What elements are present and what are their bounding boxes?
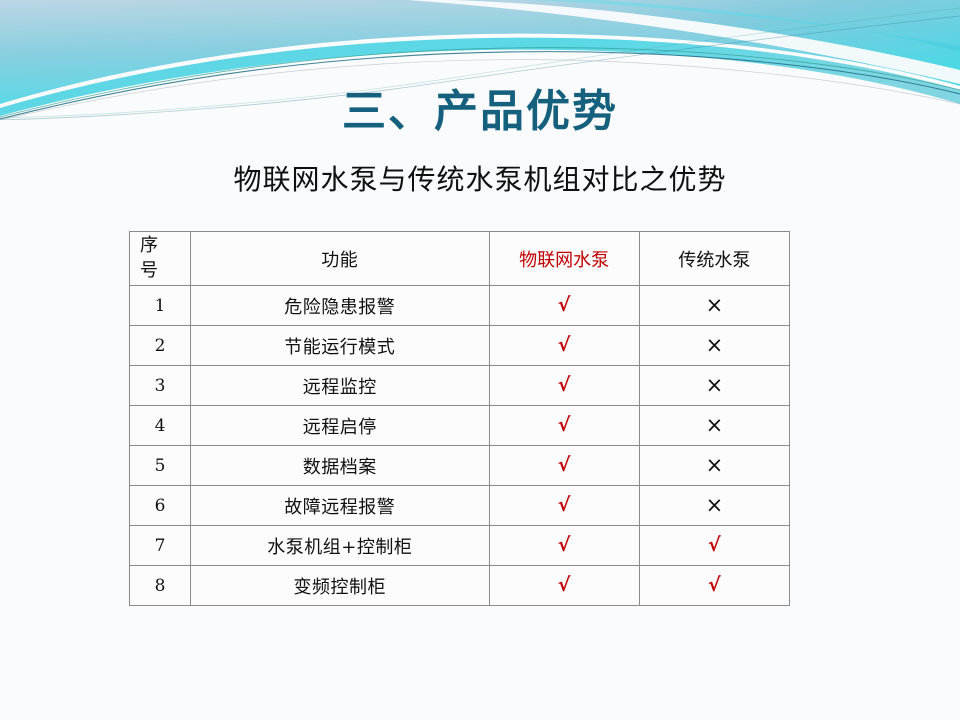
table-row: 2节能运行模式√× (130, 326, 790, 366)
table-header-row: 序 号 功能 物联网水泵 传统水泵 (130, 232, 790, 286)
cell-function-value: 远程监控 (303, 377, 377, 398)
cell-index-value: 4 (155, 416, 166, 436)
column-header-function-label: 功能 (321, 250, 358, 271)
cell-traditional-pump: × (639, 486, 789, 526)
column-header-function: 功能 (191, 232, 489, 286)
cross-icon: × (706, 415, 724, 436)
check-icon: √ (558, 376, 571, 395)
cell-index: 5 (130, 446, 191, 486)
cell-traditional-pump: √ (639, 566, 789, 606)
column-header-iot-pump: 物联网水泵 (489, 232, 639, 286)
slide-canvas: 三、产品优势 物联网水泵与传统水泵机组对比之优势 序 号 (0, 0, 960, 720)
cell-index: 6 (130, 486, 191, 526)
cell-index-value: 6 (155, 496, 166, 516)
cell-function-value: 远程启停 (303, 417, 377, 438)
table-row: 5数据档案√× (130, 446, 790, 486)
cell-traditional-pump: √ (639, 526, 789, 566)
cell-function: 故障远程报警 (191, 486, 489, 526)
column-header-index-label: 序 号 (140, 234, 180, 283)
cell-traditional-pump: × (639, 286, 789, 326)
column-header-index-line2: 号 (140, 259, 180, 283)
comparison-table-container: 序 号 功能 物联网水泵 传统水泵 1危险隐患报警√×2节能运行模式√×3远 (129, 231, 790, 606)
cross-icon: × (706, 455, 724, 476)
comparison-table: 序 号 功能 物联网水泵 传统水泵 1危险隐患报警√×2节能运行模式√×3远 (129, 231, 790, 606)
cell-iot-pump: √ (489, 366, 639, 406)
cell-function-value: 数据档案 (303, 457, 377, 478)
table-row: 4远程启停√× (130, 406, 790, 446)
table-body: 1危险隐患报警√×2节能运行模式√×3远程监控√×4远程启停√×5数据档案√×6… (130, 286, 790, 606)
page-subtitle-text: 物联网水泵与传统水泵机组对比之优势 (233, 164, 726, 196)
cell-index: 4 (130, 406, 191, 446)
check-icon: √ (558, 336, 571, 355)
cell-iot-pump: √ (489, 406, 639, 446)
page-subtitle: 物联网水泵与传统水泵机组对比之优势 (0, 164, 960, 196)
cell-traditional-pump: × (639, 326, 789, 366)
page-title: 三、产品优势 (0, 88, 960, 136)
check-icon: √ (708, 576, 721, 595)
cell-index-value: 7 (155, 536, 166, 556)
cell-function: 水泵机组+控制柜 (191, 526, 489, 566)
cell-index: 3 (130, 366, 191, 406)
column-header-iot-pump-label: 物联网水泵 (519, 250, 609, 271)
cell-function-value: 节能运行模式 (284, 337, 395, 358)
cell-iot-pump: √ (489, 486, 639, 526)
cell-index: 7 (130, 526, 191, 566)
cell-index-value: 8 (155, 576, 166, 596)
cell-index: 2 (130, 326, 191, 366)
cell-function-value: 故障远程报警 (284, 497, 395, 518)
cell-traditional-pump: × (639, 366, 789, 406)
cross-icon: × (706, 375, 724, 396)
cell-function: 远程监控 (191, 366, 489, 406)
table-row: 6故障远程报警√× (130, 486, 790, 526)
check-icon: √ (558, 496, 571, 515)
cross-icon: × (706, 295, 724, 316)
table-row: 7水泵机组+控制柜√√ (130, 526, 790, 566)
check-icon: √ (558, 536, 571, 555)
cell-index: 1 (130, 286, 191, 326)
cell-function-value: 水泵机组+控制柜 (267, 537, 412, 558)
cross-icon: × (706, 495, 724, 516)
cell-iot-pump: √ (489, 326, 639, 366)
column-header-traditional-pump: 传统水泵 (639, 232, 789, 286)
check-icon: √ (558, 416, 571, 435)
cell-function: 远程启停 (191, 406, 489, 446)
cell-iot-pump: √ (489, 446, 639, 486)
cell-traditional-pump: × (639, 406, 789, 446)
cell-index-value: 2 (155, 336, 166, 356)
cell-index-value: 5 (155, 456, 166, 476)
check-icon: √ (558, 296, 571, 315)
table-row: 1危险隐患报警√× (130, 286, 790, 326)
cell-function-value: 危险隐患报警 (284, 297, 395, 318)
cell-function: 危险隐患报警 (191, 286, 489, 326)
table-row: 8变频控制柜√√ (130, 566, 790, 606)
cell-function: 变频控制柜 (191, 566, 489, 606)
check-icon: √ (558, 576, 571, 595)
cell-iot-pump: √ (489, 526, 639, 566)
column-header-index: 序 号 (130, 232, 191, 286)
cell-function-value: 变频控制柜 (294, 577, 387, 598)
check-icon: √ (708, 536, 721, 555)
cell-index: 8 (130, 566, 191, 606)
cell-iot-pump: √ (489, 286, 639, 326)
cell-function: 数据档案 (191, 446, 489, 486)
cell-function: 节能运行模式 (191, 326, 489, 366)
column-header-index-line1: 序 (140, 234, 180, 258)
table-header: 序 号 功能 物联网水泵 传统水泵 (130, 232, 790, 286)
table-row: 3远程监控√× (130, 366, 790, 406)
cell-iot-pump: √ (489, 566, 639, 606)
cell-index-value: 1 (155, 296, 166, 316)
page-title-text: 三、产品优势 (342, 88, 618, 136)
column-header-traditional-pump-label: 传统水泵 (678, 250, 750, 271)
cell-traditional-pump: × (639, 446, 789, 486)
cell-index-value: 3 (155, 376, 166, 396)
cross-icon: × (706, 335, 724, 356)
check-icon: √ (558, 456, 571, 475)
